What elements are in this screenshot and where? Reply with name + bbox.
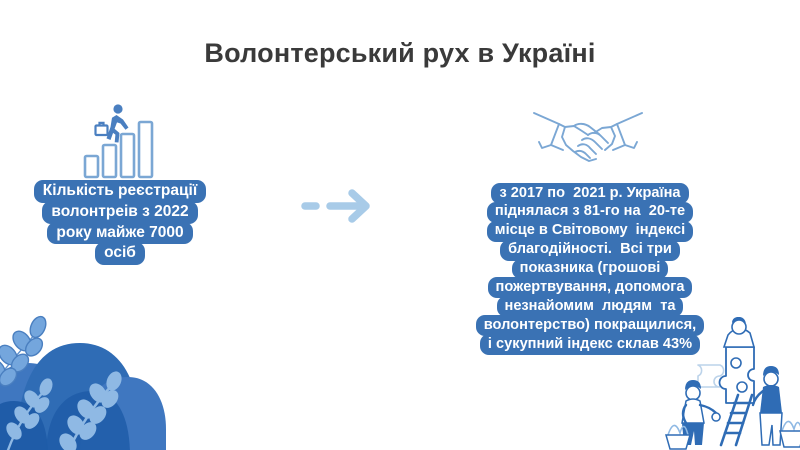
slide-canvas: Волонтерський рух в Україні xyxy=(0,0,800,450)
right-statistic-callout: з 2017 по 2021 р. Україна піднялася з 81… xyxy=(452,184,728,354)
callout-line: піднялася з 81-го на 20-те xyxy=(487,202,693,223)
callout-line: і сукупний індекс склав 43% xyxy=(480,334,700,355)
callout-line: волонтерство) покращилися, xyxy=(476,315,704,336)
handshake-icon xyxy=(532,104,644,176)
callout-line: показника (грошові xyxy=(512,259,669,280)
growth-chart-person-icon xyxy=(78,100,164,180)
left-statistic-callout: Кількість реєстрації волонтреів з 2022 р… xyxy=(14,181,226,264)
callout-line: місце в Світовому індексі xyxy=(487,221,693,242)
callout-line: волонтреів з 2022 xyxy=(42,201,197,224)
foliage-decoration xyxy=(0,271,188,450)
callout-line: осіб xyxy=(95,242,145,265)
callout-line: благодійності. Всі три xyxy=(500,240,680,261)
dashed-arrow-right-icon xyxy=(300,186,386,226)
callout-line: з 2017 по 2021 р. Україна xyxy=(491,183,688,204)
callout-line: року майже 7000 xyxy=(47,222,192,245)
callout-line: Кількість реєстрації xyxy=(34,180,206,203)
callout-line: незнайомим людям та xyxy=(497,296,684,317)
callout-line: пожертвування, допомога xyxy=(488,277,693,298)
page-title: Волонтерський рух в Україні xyxy=(0,38,800,69)
